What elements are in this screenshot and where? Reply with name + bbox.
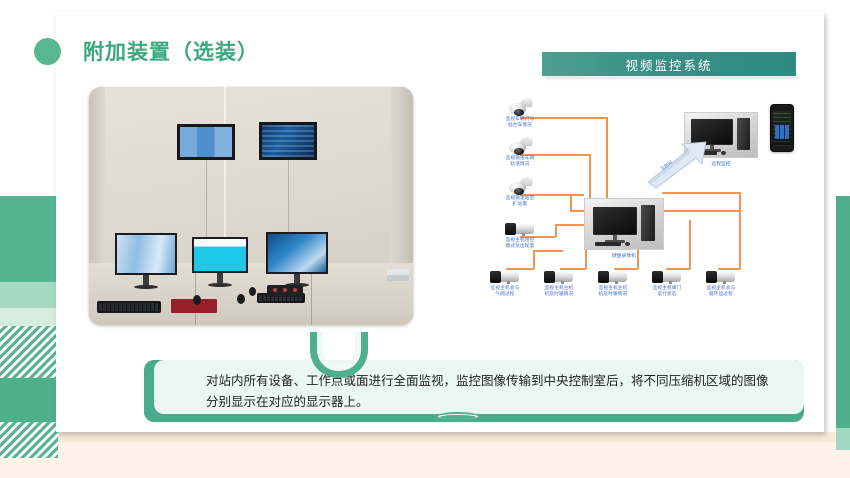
- dvr-mouse: [625, 242, 630, 246]
- keyboard-1: [97, 301, 161, 313]
- device-label: 监视主机阀门 运行状态: [638, 285, 696, 296]
- desk-monitor-3-screen: [266, 232, 328, 274]
- caption-panel: 对站内所有设备、工作点或面进行全面监视，监控图像传输到中央控制室后，将不同压缩机…: [154, 360, 804, 414]
- mouse-1: [193, 295, 201, 305]
- bullet-camera-icon: [598, 270, 628, 284]
- connector-bullet-1-v: [533, 250, 535, 269]
- banner-shadow: [545, 76, 799, 79]
- desk-monitor-3: [266, 232, 328, 274]
- bullet-camera-mount: [561, 281, 564, 284]
- joystick-button-1: [273, 288, 277, 292]
- device-label: 监视主机主机 机及时输情况: [584, 285, 642, 296]
- remote-tower: [737, 118, 750, 150]
- connector-dvr-right-2: [662, 192, 740, 194]
- device-label: 监视输送站空 扩站量: [492, 195, 548, 206]
- remote-mouse: [721, 151, 726, 155]
- dome-camera-icon: [507, 177, 533, 194]
- device-bullet-camera-0: 监视主机组控 模式及出现量: [490, 222, 550, 248]
- dome-camera-icon: [507, 137, 533, 154]
- control-room-photo: [89, 87, 413, 325]
- bullet-camera-hood: [706, 271, 717, 283]
- slide-canvas: 附加装置（选装） 视频监控系统: [0, 0, 850, 478]
- dvr-monitor: [593, 207, 637, 235]
- smartphone-screen: [773, 111, 791, 146]
- device-dome-camera-3: 监视输送站空 扩站量: [492, 177, 548, 206]
- desk-monitor-2-base: [208, 283, 232, 287]
- page-title-text: 附加装置（选装）: [83, 36, 259, 66]
- connector-bullet-4-v: [689, 220, 691, 269]
- dvr-keyboard: [595, 242, 621, 246]
- right-decor-band: [836, 196, 850, 428]
- bullet-camera-mount: [615, 281, 618, 284]
- joystick-button-3: [293, 288, 297, 292]
- photo-wall-corner: [224, 87, 226, 237]
- left-decor-stripes-2: [0, 422, 58, 458]
- bullet-camera-hood: [544, 271, 555, 283]
- device-label: 监视主机总与 气阀过程: [476, 285, 534, 296]
- content-card: 附加装置（选装） 视频监控系统: [56, 12, 824, 432]
- connector-bullet-1-h2: [533, 250, 563, 252]
- left-decor-band-3: [0, 308, 58, 326]
- mouse-3: [249, 287, 256, 296]
- internet-arrow-icon: 互联网: [644, 142, 718, 186]
- left-decor-band-4: [0, 378, 58, 422]
- wall-display-1-screen: [180, 127, 232, 157]
- dome-camera-ball: [509, 182, 526, 194]
- stacked-books: [387, 269, 409, 281]
- section-banner: 视频监控系统: [542, 52, 796, 76]
- desk-monitor-2-stand: [217, 273, 223, 283]
- bullet-camera-icon: [652, 270, 682, 284]
- device-bullet-camera-3: 监视主机主机 机及时输情况: [584, 270, 642, 296]
- section-banner-text: 视频监控系统: [625, 55, 712, 74]
- bullet-camera-icon: [706, 270, 736, 284]
- connector-dome-1-v: [606, 117, 608, 200]
- bullet-camera-mount: [723, 281, 726, 284]
- desk-monitor-3-stand: [294, 274, 300, 283]
- bullet-camera-mount: [669, 281, 672, 284]
- connector-bullet-5-v: [739, 192, 741, 269]
- desk-monitor-1-screen: [115, 233, 177, 275]
- bullet-camera-mount: [507, 281, 510, 284]
- desk-monitor-2-screen: [192, 237, 248, 273]
- connector-dome-4-v: [555, 224, 557, 237]
- bullet-camera-hood: [652, 271, 663, 283]
- bullet-camera-icon: [544, 270, 574, 284]
- device-label: 监视主机主机 机及时输情况: [530, 285, 588, 296]
- desk-monitor-1-base: [134, 285, 158, 289]
- device-dome-camera-2: 监视输送车辆 轨道情况: [492, 137, 548, 166]
- dome-camera-ball: [509, 103, 526, 115]
- bullet-camera-icon: [505, 222, 535, 236]
- page-title: 附加装置（选装）: [34, 36, 259, 66]
- bullet-camera-hood: [505, 223, 516, 235]
- bullet-camera-hood: [598, 271, 609, 283]
- desk-monitor-1-stand: [143, 275, 149, 285]
- connector-dome-2-v: [589, 154, 591, 200]
- decor-arc-inner: [318, 332, 360, 370]
- bottom-cream-band-2: [0, 432, 850, 442]
- caption-text: 对站内所有设备、工作点或面进行全面监视，监控图像传输到中央控制室后，将不同压缩机…: [206, 371, 780, 413]
- bullet-camera-icon: [490, 270, 520, 284]
- device-label: 监视车辆门与 站台车情况: [492, 116, 548, 127]
- dvr-label: 硬盘录像机: [584, 252, 664, 259]
- desk-monitor-2: [192, 237, 248, 273]
- joystick-button-2: [283, 288, 287, 292]
- ptz-joystick-controller: [267, 285, 303, 297]
- connector-dvr-right-1: [662, 210, 740, 212]
- desk-monitor-1: [115, 233, 177, 275]
- device-label: 监视主机组控 模式及出现量: [490, 237, 550, 248]
- connector-dome-4-h2: [555, 224, 586, 226]
- bullet-dot-icon: [34, 38, 61, 65]
- device-dome-camera-1: 监视车辆门与 站台车情况: [492, 98, 548, 127]
- connector-dome-3-v: [570, 194, 572, 210]
- bullet-camera-hood: [490, 271, 501, 283]
- mouse-2: [237, 294, 245, 304]
- smartphone-app-grid: [775, 125, 789, 139]
- dome-camera-icon: [507, 98, 533, 115]
- dome-camera-lens: [514, 188, 524, 195]
- left-decor-band-1: [0, 196, 58, 282]
- smartphone-icon: [770, 104, 794, 152]
- dvr-computer-icon: [584, 198, 664, 250]
- dome-camera-lens: [514, 148, 524, 155]
- cctv-topology-diagram: 监视车辆门与 站台车情况 监视输送车辆 轨道情况 监: [448, 90, 792, 334]
- device-bullet-camera-4: 监视主机阀门 运行状态: [638, 270, 696, 296]
- caption-ellipse-inner: [440, 415, 476, 419]
- caption-block: 对站内所有设备、工作点或面进行全面监视，监控图像传输到中央控制室后，将不同压缩机…: [144, 360, 804, 422]
- wall-display-2-screen: [262, 125, 314, 157]
- keyboard-1-keys: [99, 303, 159, 311]
- right-decor-band-2: [836, 428, 850, 450]
- device-label: 监视主机总与 循环运过程: [692, 285, 750, 296]
- device-bullet-camera-2: 监视主机主机 机及时输情况: [530, 270, 588, 296]
- left-decor-band-2: [0, 282, 58, 308]
- wall-display-2: [259, 122, 317, 160]
- device-bullet-camera-1: 监视主机总与 气阀过程: [476, 270, 534, 296]
- wall-display-1-cable: [206, 160, 207, 238]
- bullet-camera-mount: [522, 233, 525, 236]
- device-label: 监视输送车辆 轨道情况: [492, 155, 548, 166]
- dome-camera-lens: [514, 109, 524, 116]
- dvr-tower: [641, 205, 655, 241]
- wall-display-1: [177, 124, 235, 160]
- device-bullet-camera-5: 监视主机总与 循环运过程: [692, 270, 750, 296]
- left-decor-stripes-1: [0, 326, 58, 378]
- dome-camera-ball: [509, 142, 526, 154]
